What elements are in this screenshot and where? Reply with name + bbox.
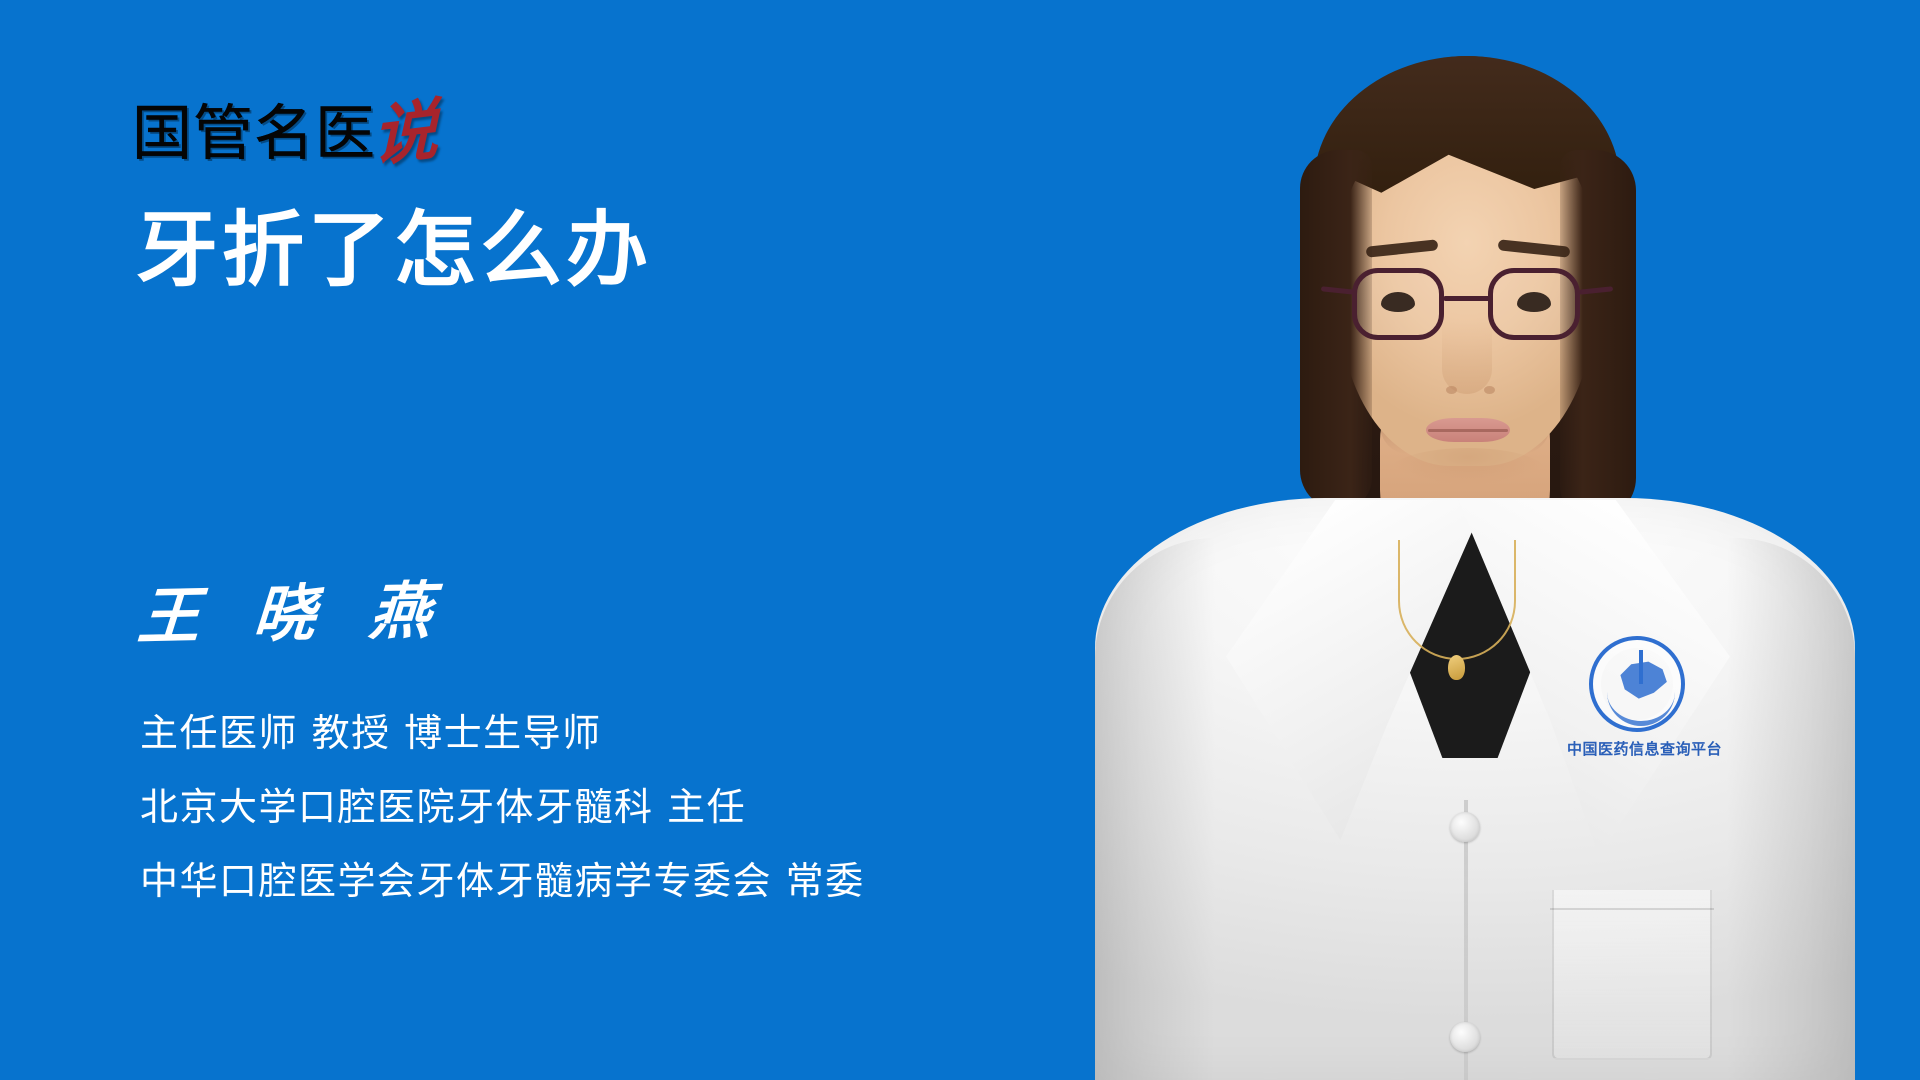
necklace-chain [1398, 540, 1516, 660]
speaker-credentials: 主任医师 教授 博士生导师 北京大学口腔医院牙体牙髓科 主任 中华口腔医学会牙体… [140, 710, 865, 904]
brand-logo-text: 国管名医 [132, 102, 376, 166]
eyeglass-bridge [1443, 296, 1491, 301]
credential-line-1: 主任医师 教授 博士生导师 [140, 710, 865, 756]
coat-badge: 中国医药信息查询平台 [1573, 636, 1701, 786]
eyeglass-lens-right [1488, 268, 1580, 340]
speaker-portrait: 中国医药信息查询平台 [1040, 0, 1920, 1080]
china-map-emblem-icon [1589, 636, 1685, 732]
nostril-right [1484, 386, 1495, 394]
coat-button-top [1450, 812, 1480, 842]
mouth-line [1428, 429, 1508, 432]
necklace-pendant [1448, 655, 1465, 680]
emblem-wreath [1607, 692, 1675, 726]
nostril-left [1446, 386, 1457, 394]
eyeglass-lens-left [1352, 268, 1444, 340]
brand-logo: 国管名医 说 [132, 88, 438, 166]
chest-pocket [1552, 890, 1712, 1060]
nose [1442, 320, 1492, 394]
credential-line-3: 中华口腔医学会牙体牙髓病学专委会 常委 [140, 858, 865, 904]
coat-badge-text: 中国医药信息查询平台 [1567, 740, 1709, 758]
chin-shading [1390, 448, 1546, 494]
coat-button-bottom [1450, 1022, 1480, 1052]
chest-pocket-flap [1550, 884, 1714, 910]
credential-line-2: 北京大学口腔医院牙体牙髓科 主任 [140, 784, 865, 830]
speaker-name: 王 晓 燕 [135, 575, 449, 653]
program-title: 牙折了怎么办 [136, 205, 652, 297]
emblem-rod [1639, 650, 1643, 684]
hair-side-right [1560, 150, 1636, 520]
brand-logo-accent-char: 说 [372, 98, 439, 168]
slide-canvas: 国管名医 说 牙折了怎么办 王 晓 燕 主任医师 教授 博士生导师 北京大学口腔… [0, 0, 1920, 1080]
